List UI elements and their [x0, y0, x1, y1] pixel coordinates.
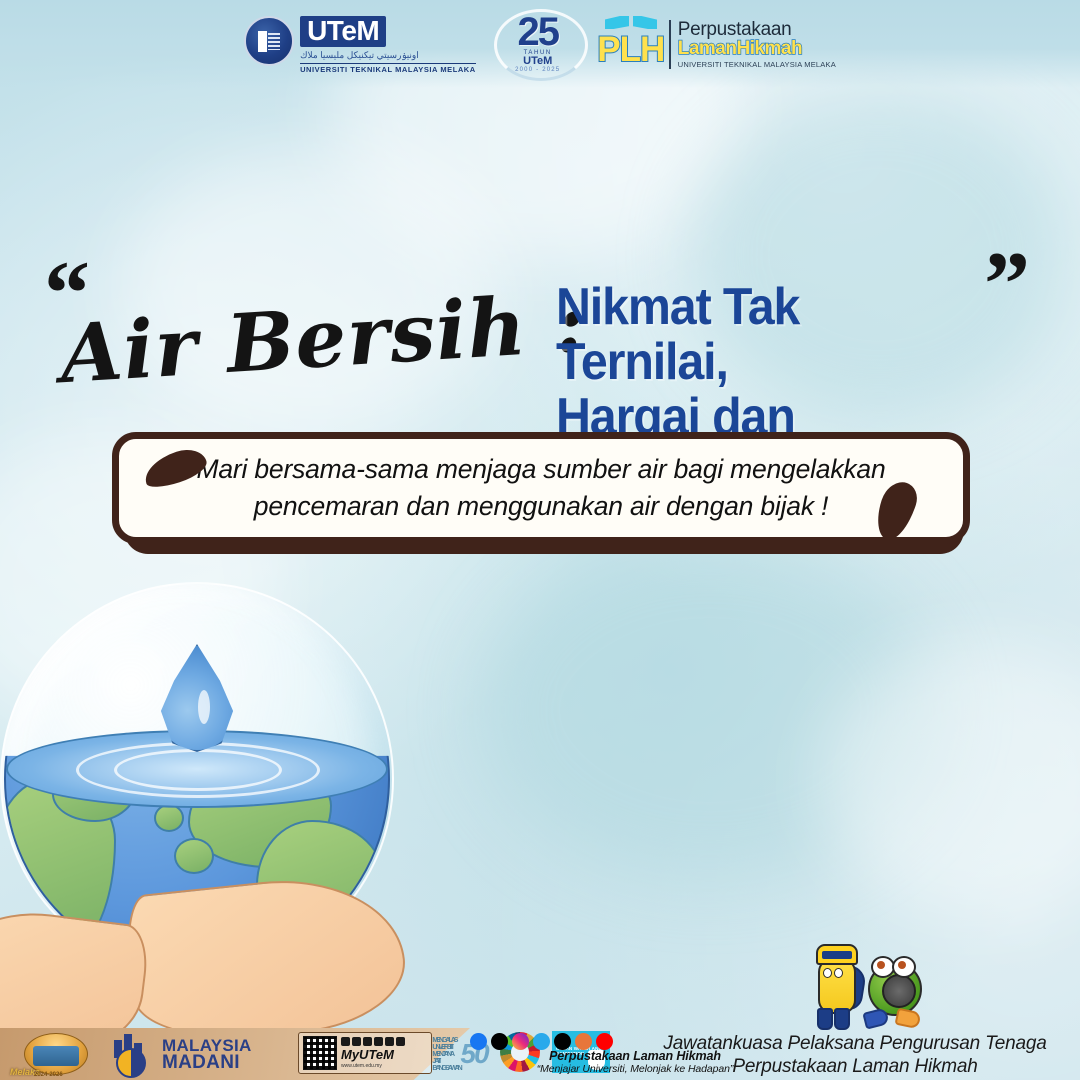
plh-line1: Perpustakaan: [678, 20, 836, 39]
plh-line2: LamanHikmah: [678, 39, 836, 59]
myutem-panel[interactable]: MyUTeM www.utem.edu.my: [298, 1032, 432, 1074]
mascot-cap: [816, 944, 858, 965]
utem-subtitle: UNIVERSITI TEKNIKAL MALAYSIA MELAKA: [300, 63, 476, 75]
logo-band: UTeM اونيۏرسيتي تيكنيكل مليسيا ملاك UNIV…: [0, 0, 1080, 88]
linkedin-icon[interactable]: [396, 1037, 405, 1046]
myutem-info: MyUTeM www.utem.edu.my: [341, 1037, 405, 1069]
mascot-eye: [834, 968, 843, 978]
utem-seal-icon: [244, 16, 294, 66]
watercolor-wash: [820, 640, 1080, 920]
madani-line2: MADANI: [162, 1054, 252, 1071]
mascot-shoe: [862, 1007, 889, 1029]
message-box-frame: Mari bersama-sama menjaga sumber air bag…: [112, 432, 970, 544]
landmass: [154, 804, 184, 832]
energy-hero-mascot: [812, 944, 858, 1028]
utem-jawi-text: اونيۏرسيتي تيكنيكل مليسيا ملاك: [300, 50, 419, 61]
madani-wordmark: MALAYSIA MADANI: [162, 1037, 252, 1071]
youtube-icon[interactable]: [363, 1037, 372, 1046]
plh-line3: UNIVERSITI TEKNIKAL MALAYSIA MELAKA: [678, 60, 836, 69]
x-icon[interactable]: [491, 1033, 508, 1050]
plh-logo: PLH Perpustakaan LamanHikmah UNIVERSITI …: [600, 14, 836, 74]
youtube-icon[interactable]: [596, 1033, 613, 1050]
whatsapp-icon[interactable]: [575, 1033, 592, 1050]
plh-footer-name: Perpustakaan Laman Hikmah: [470, 1049, 800, 1063]
mascot-body: [818, 958, 856, 1014]
closing-quote-mark: ”: [984, 254, 1030, 314]
landmass: [174, 838, 214, 874]
poster-canvas: UTeM اونيۏرسيتي تيكنيكل مليسيا ملاك UNIV…: [0, 0, 1080, 1080]
social-icon-row: [470, 1033, 613, 1050]
ripple-ring-icon: [114, 749, 282, 791]
mascot-shoe: [894, 1008, 921, 1030]
fifty-years-label: MENGALAS UNIVERSITI MENJANA JATI BANGSAW…: [432, 1037, 458, 1072]
madani-mark-icon: [112, 1034, 156, 1074]
mascot-eye: [898, 961, 906, 969]
tiktok-icon[interactable]: [385, 1037, 394, 1046]
plh-mark: PLH: [600, 14, 662, 74]
myutem-url: www.utem.edu.my: [341, 1063, 405, 1069]
mascot-eye: [877, 961, 885, 969]
plh-footer-tagline: “Menjajar Universiti, Melonjak ke Hadapa…: [470, 1063, 800, 1075]
mascot-eye: [823, 968, 832, 978]
telegram-icon[interactable]: [533, 1033, 550, 1050]
instagram-icon[interactable]: [512, 1033, 529, 1050]
visit-melaka-logo: Melaka 2024-2026: [10, 1031, 102, 1077]
instagram-icon[interactable]: [352, 1037, 361, 1046]
plh-initials: PLH: [600, 27, 662, 72]
x-icon[interactable]: [374, 1037, 383, 1046]
electric-meter-mascot: [862, 950, 924, 1028]
utem-wordmark-group: UTeM اونيۏرسيتي تيكنيكل مليسيا ملاك UNIV…: [300, 16, 476, 75]
watercolor-wash: [480, 540, 940, 880]
footer-bar: Melaka 2024-2026 MALAYSIA MADANI: [0, 1028, 1080, 1080]
facebook-icon[interactable]: [470, 1033, 487, 1050]
headline-block: “ Air Bersih : Nikmat Tak Ternilai, Harg…: [0, 250, 1080, 420]
mascot-group: [806, 936, 936, 1032]
tiktok-icon[interactable]: [554, 1033, 571, 1050]
utem-logo: UTeM اونيۏرسيتي تيكنيكل مليسيا ملاك UNIV…: [244, 14, 476, 75]
laurel-ring-icon: [494, 9, 588, 81]
meter-dial-icon: [882, 974, 916, 1008]
hands-holding-water-globe-illustration: [0, 582, 410, 1012]
message-box: Mari bersama-sama menjaga sumber air bag…: [112, 432, 964, 554]
headline-blue-line1: Nikmat Tak Ternilai,: [556, 280, 975, 390]
malaysia-madani-logo: MALAYSIA MADANI: [112, 1034, 252, 1074]
mascot-leg: [834, 1008, 850, 1030]
mascot-leg: [817, 1008, 833, 1030]
message-text: Mari bersama-sama menjaga sumber air bag…: [161, 451, 921, 525]
plh-wordmark: Perpustakaan LamanHikmah UNIVERSITI TEKN…: [669, 20, 836, 69]
utem-wordmark: UTeM: [300, 16, 386, 47]
qr-code-icon[interactable]: [303, 1036, 337, 1070]
headline-script-text: Air Bersih :: [58, 281, 562, 397]
visit-melaka-years: 2024-2026: [34, 1072, 63, 1078]
myutem-name: MyUTeM: [341, 1048, 405, 1061]
facebook-icon[interactable]: [341, 1037, 350, 1046]
anniversary-logo: 25 TAHUN UTeM 2000 - 2025: [490, 7, 586, 81]
myutem-social-icons: [341, 1037, 405, 1046]
crescent-star-icon: [116, 1048, 146, 1078]
